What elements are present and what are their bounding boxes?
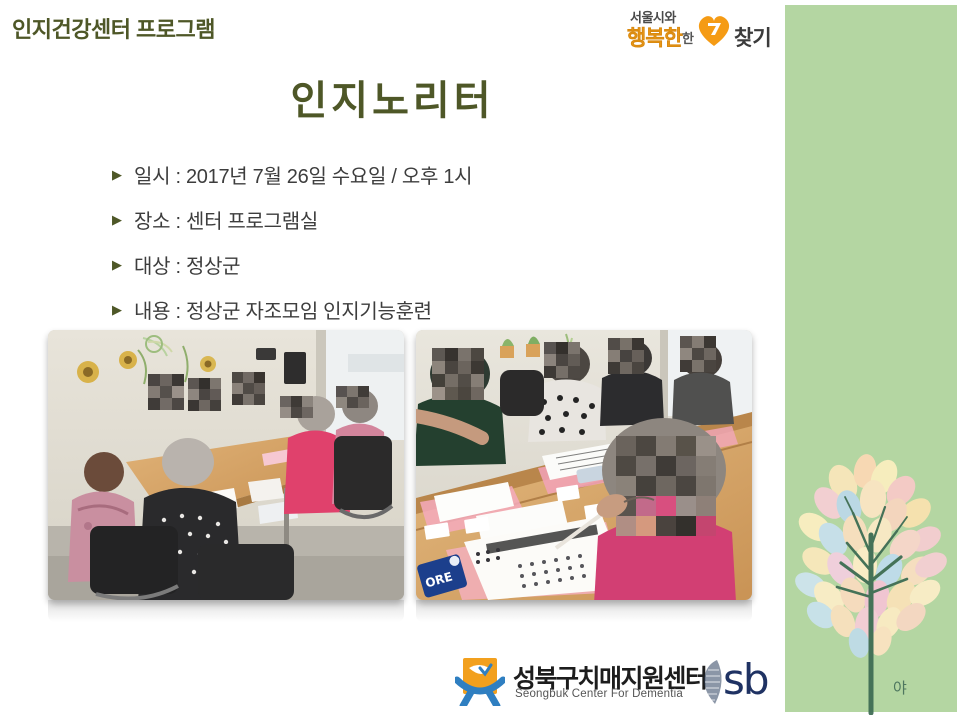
tree-illustration: 야 — [785, 435, 957, 715]
photo-right: ORE — [416, 330, 752, 600]
main-title: 인지노리터 — [0, 68, 785, 126]
photo-left — [48, 330, 404, 600]
list-item: ▶ 장소 : 센터 프로그램실 — [112, 197, 732, 242]
list-item-text: 일시 : 2017년 7월 26일 수요일 / 오후 1시 — [134, 160, 472, 189]
page-title: 인지건강센터 프로그램 — [12, 12, 215, 44]
logo-english-name: Seongbuk Center For Dementia — [515, 688, 683, 700]
seoul-happy-logo: 서울시와 행복한 한 찾기 — [626, 6, 778, 52]
slide-canvas: 야 인지건강센터 프로그램 서울시와 행복한 한 찾기 인지노리터 ▶ 일시 :… — [0, 0, 960, 720]
seongbuk-dementia-center-logo: 성북구치매지원센터 Seongbuk Center For Dementia s… — [455, 656, 767, 712]
sidebar-panel: 야 — [785, 5, 957, 712]
logo-sb-mark: sb — [723, 655, 768, 704]
orange-heart-icon — [694, 12, 734, 48]
triangle-bullet-icon: ▶ — [112, 258, 134, 271]
tree-signature: 야 — [893, 679, 907, 697]
triangle-bullet-icon: ▶ — [112, 213, 134, 226]
list-item-text: 내용 : 정상군 자조모임 인지기능훈련 — [134, 295, 432, 324]
list-item: ▶ 대상 : 정상군 — [112, 242, 732, 287]
triangle-bullet-icon: ▶ — [112, 168, 134, 181]
triangle-bullet-icon: ▶ — [112, 303, 134, 316]
list-item-text: 장소 : 센터 프로그램실 — [134, 205, 318, 234]
list-item-text: 대상 : 정상군 — [134, 250, 240, 279]
list-item: ▶ 일시 : 2017년 7월 26일 수요일 / 오후 1시 — [112, 152, 732, 197]
details-list: ▶ 일시 : 2017년 7월 26일 수요일 / 오후 1시 ▶ 장소 : 센… — [112, 152, 732, 332]
photo-left-shadow — [48, 600, 404, 622]
toplogo-line4: 찾기 — [734, 22, 771, 52]
toplogo-line3: 한 — [682, 28, 694, 47]
list-item: ▶ 내용 : 정상군 자조모임 인지기능훈련 — [112, 287, 732, 332]
toplogo-line2: 행복한 — [627, 22, 682, 52]
person-figure-icon — [455, 658, 505, 706]
photo-right-shadow — [416, 600, 752, 622]
